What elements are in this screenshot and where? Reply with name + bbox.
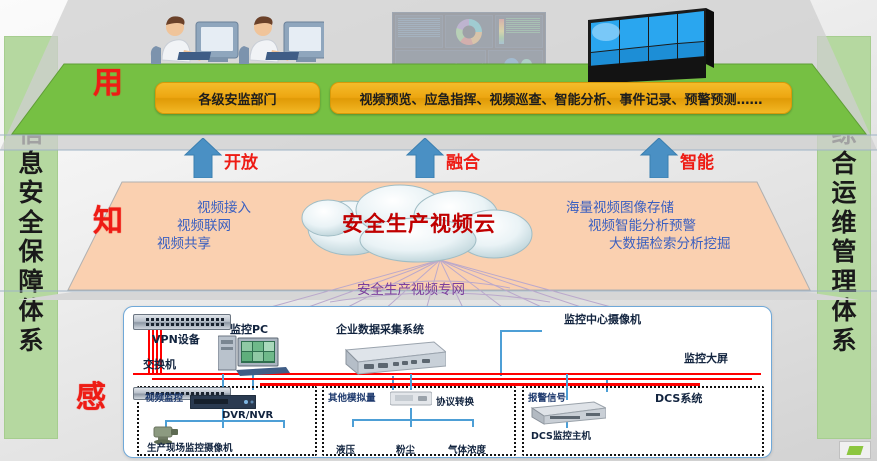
cable-blue: [472, 419, 474, 427]
dcs-host-label: DCS监控主机: [531, 428, 591, 442]
cloud-left-label-3: 视频共享: [157, 232, 211, 252]
arrow-fusion-label: 融合: [446, 148, 480, 173]
rail-char: 体: [18, 298, 43, 325]
cable-blue: [500, 330, 502, 376]
cable-blue: [410, 419, 412, 427]
dvr-nvr-label: DVR/NVR: [222, 410, 273, 421]
big-screen-label: 监控大屏: [684, 350, 728, 366]
dcs-system-label: DCS系统: [655, 390, 702, 406]
arrow-intelligent-icon: [639, 138, 679, 182]
data-collect-label: 企业数据采集系统: [336, 321, 424, 337]
protocol-converter-label: 协议转换: [436, 394, 474, 408]
cloud-left-label-1: 视频接入: [197, 196, 251, 216]
arrow-open-label: 开放: [224, 148, 258, 173]
rail-char: 系: [18, 328, 43, 355]
vpn-device-label: VPN设备: [152, 331, 200, 347]
arrow-intelligent-label: 智能: [680, 148, 714, 173]
corner-marker: [839, 441, 871, 459]
cloud-title: 安全生产视频云: [288, 182, 550, 264]
private-network-label: 安全生产视频专网: [357, 278, 465, 298]
alarm-signal-title: 报警信号: [528, 390, 566, 404]
switch-label: 交换机: [143, 356, 176, 372]
data-collect-icon: [338, 336, 446, 378]
cable-blue: [500, 330, 542, 332]
red-bus-line: [152, 378, 752, 380]
cloud-right-label-2: 视频智能分析预警: [588, 214, 696, 234]
video-surveillance-title: 视频监控: [145, 390, 183, 404]
layer-tag-use: 用: [93, 58, 123, 102]
dvr-nvr-icon: [190, 394, 256, 408]
architecture-diagram: 信 息 安 全 保 障 体 系 综 合 运 维 管 理 体 系 用 知 感: [0, 0, 877, 461]
rail-char: 系: [831, 328, 856, 355]
vpn-device-icon: [133, 314, 231, 330]
layer-tag-know: 知: [93, 196, 123, 240]
center-camera-label: 监控中心摄像机: [564, 311, 641, 327]
functions-box[interactable]: 视频预览、应急指挥、视频巡查、智能分析、事件记录、预警预测……: [330, 82, 792, 114]
protocol-converter-icon: [390, 390, 432, 408]
cable-blue: [566, 374, 568, 400]
layer-tag-sense: 感: [76, 372, 106, 416]
monitor-pc-label: 监控PC: [230, 321, 268, 337]
field-camera-caption: 生产现场监控摄像机: [147, 440, 233, 454]
operators-at-computers-image: [148, 10, 324, 72]
cloud-right-label-1: 海量视频图像存储: [566, 196, 674, 216]
monitor-pc-icon: [218, 334, 290, 376]
hydraulic-label: 液压: [336, 442, 355, 456]
cable-blue: [165, 420, 223, 422]
cloud-right-label-3: 大数据检索分析挖掘: [609, 232, 731, 252]
cloud-left-label-2: 视频联网: [177, 214, 231, 234]
rail-char: 体: [831, 298, 856, 325]
cable-blue: [352, 419, 354, 427]
cable-blue: [352, 419, 474, 421]
arrow-fusion-icon: [405, 138, 445, 182]
arrow-open-icon: [183, 138, 223, 182]
dust-label: 粉尘: [396, 442, 415, 456]
dept-box[interactable]: 各级安监部门: [155, 82, 320, 114]
analog-signals-title: 其他模拟量: [328, 390, 376, 404]
gas-concentration-label: 气体浓度: [448, 442, 486, 456]
video-wall-image: [588, 8, 718, 84]
